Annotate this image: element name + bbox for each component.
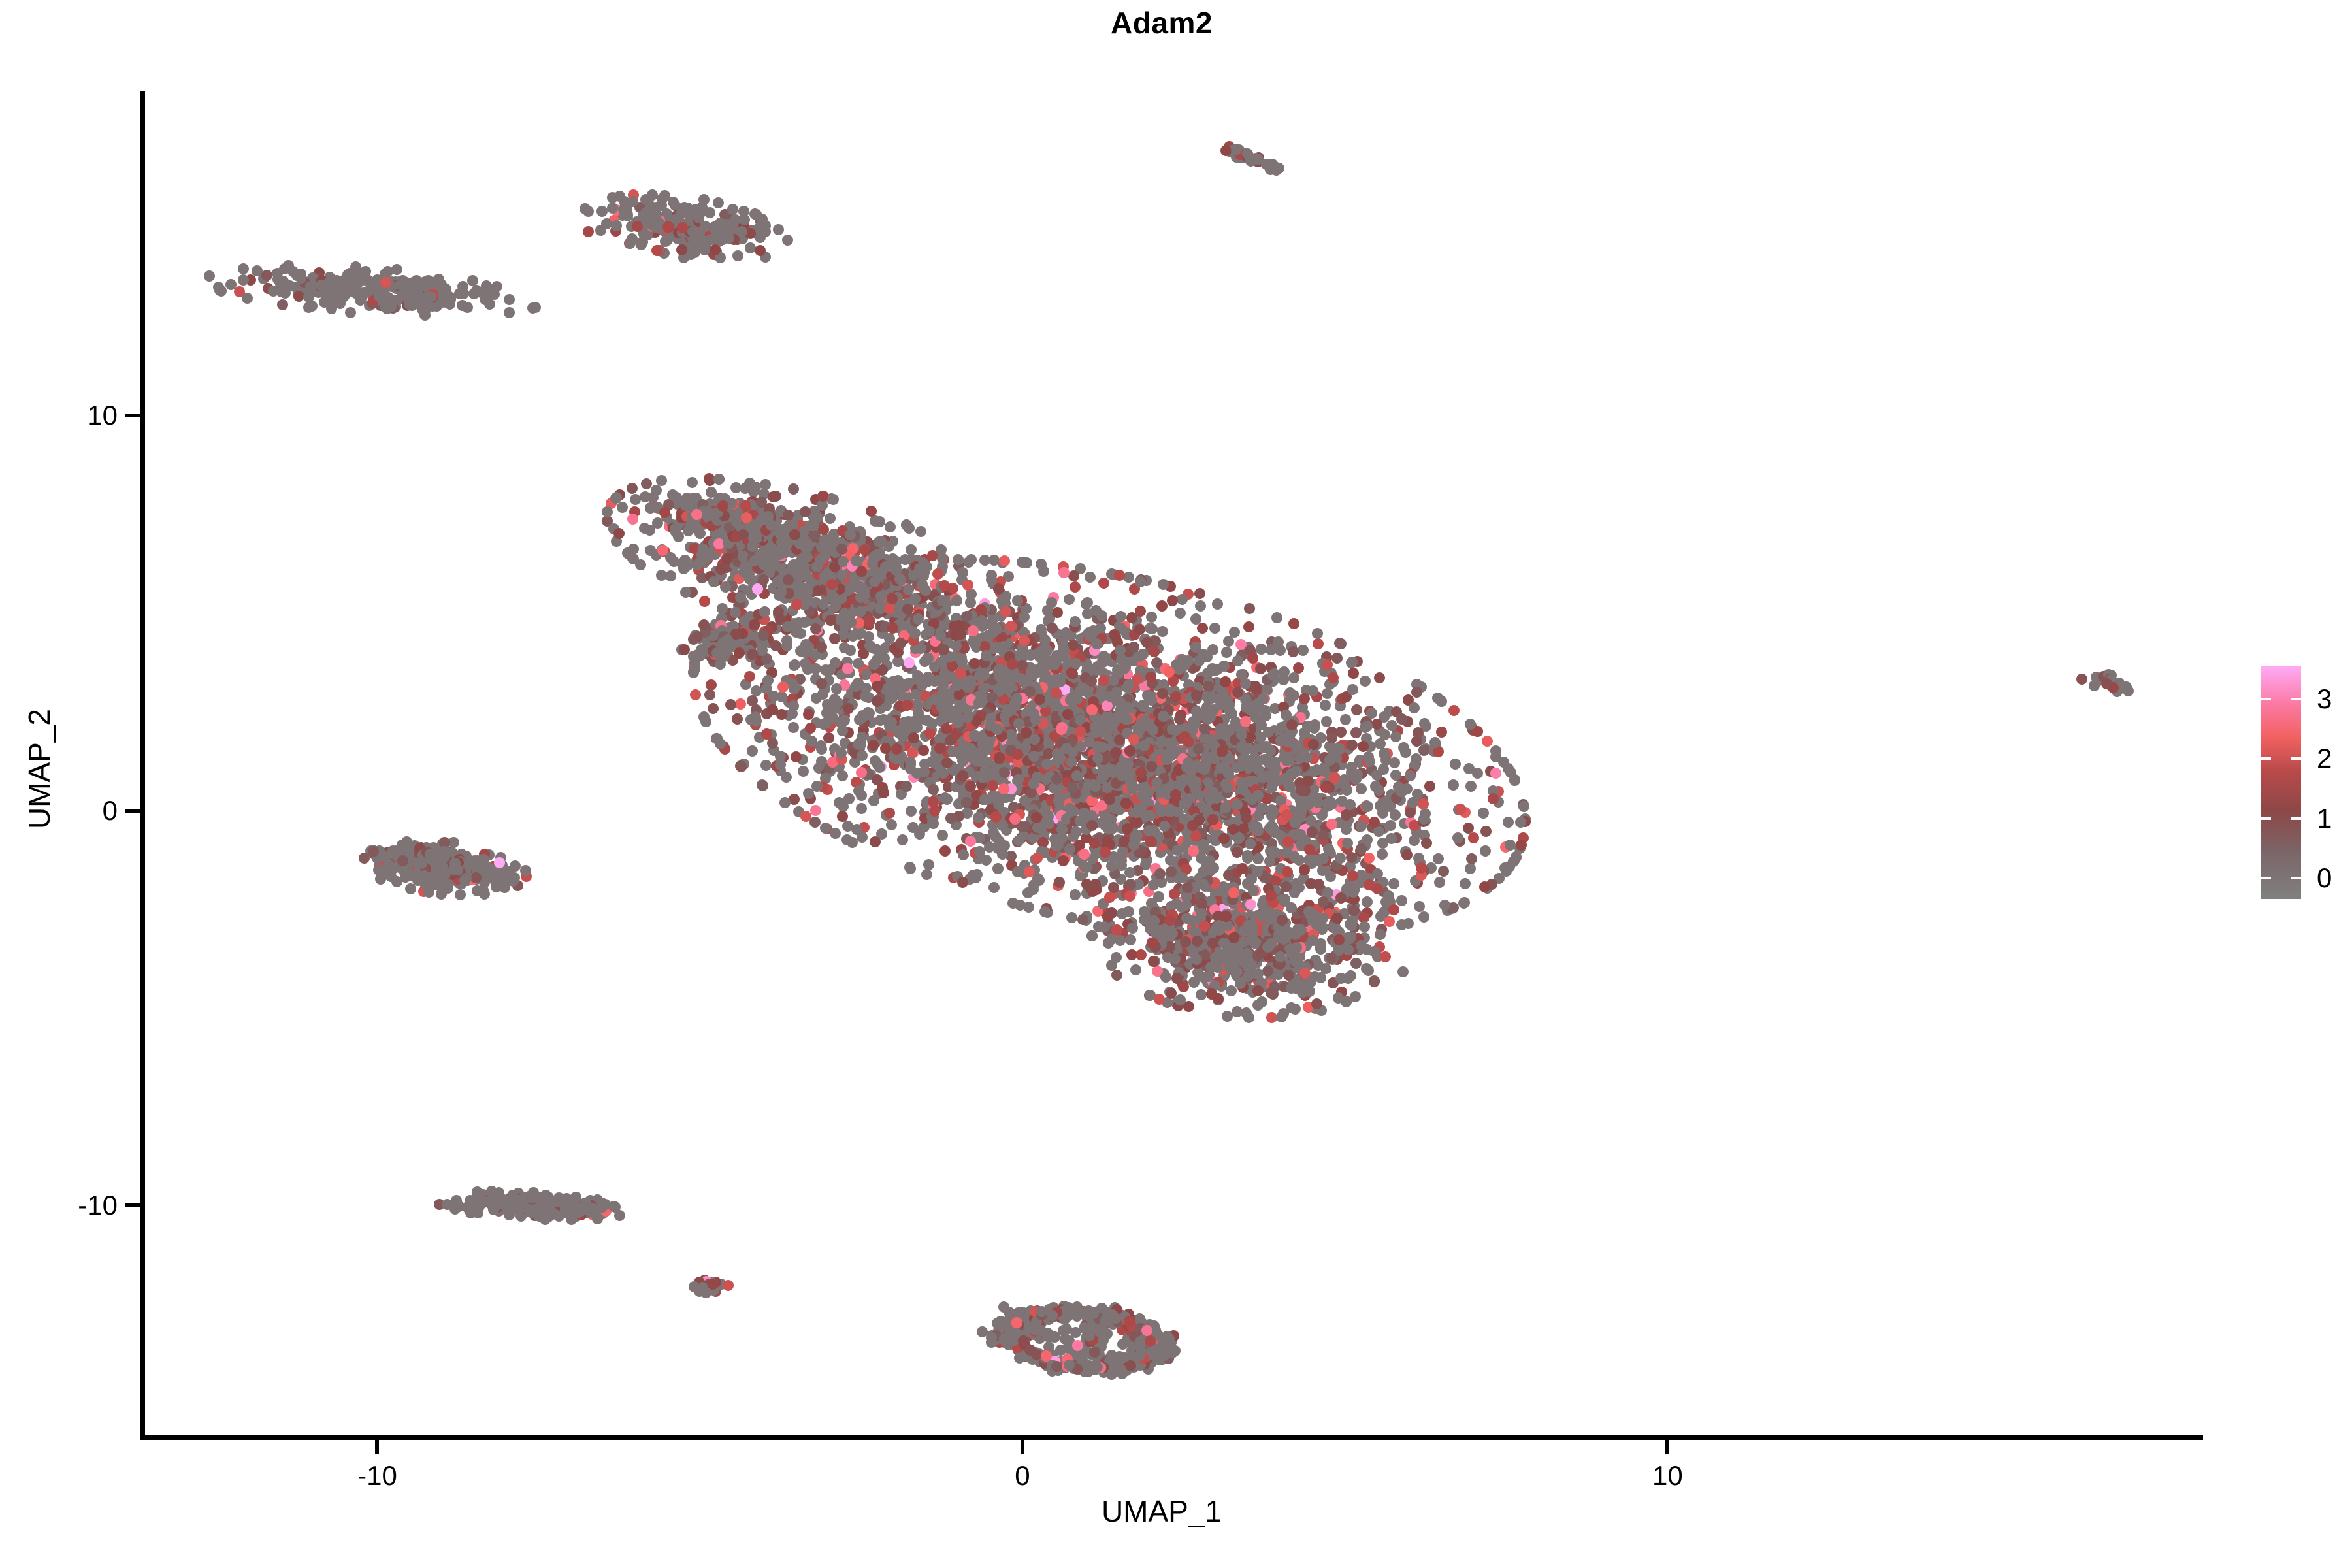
- scatter-point: [1271, 612, 1282, 623]
- scatter-point: [803, 595, 814, 606]
- scatter-point: [1022, 887, 1034, 898]
- scatter-point: [1157, 688, 1168, 699]
- scatter-point: [939, 845, 951, 857]
- scatter-point: [1012, 866, 1023, 877]
- scatter-point: [662, 221, 674, 233]
- scatter-point: [816, 756, 827, 767]
- scatter-point: [891, 743, 902, 755]
- scatter-point: [1103, 823, 1114, 834]
- scatter-point: [994, 752, 1005, 763]
- scatter-point: [853, 678, 864, 689]
- scatter-point: [1173, 664, 1184, 675]
- scatter-point: [1075, 815, 1086, 826]
- scatter-point: [504, 294, 515, 305]
- scatter-point: [1177, 594, 1188, 605]
- scatter-point: [1268, 806, 1279, 817]
- scatter-point: [965, 836, 976, 847]
- scatter-point: [1000, 606, 1011, 617]
- scatter-point: [1419, 718, 1430, 729]
- scatter-point: [934, 743, 945, 754]
- scatter-point: [896, 725, 907, 736]
- scatter-point: [783, 510, 794, 521]
- scatter-point: [607, 192, 618, 203]
- scatter-point: [923, 859, 934, 870]
- scatter-point: [1232, 655, 1243, 666]
- scatter-point: [1385, 820, 1396, 831]
- scatter-point: [1170, 789, 1181, 800]
- scatter-point: [1149, 646, 1160, 657]
- scatter-point: [1037, 655, 1049, 666]
- scatter-point: [277, 299, 288, 310]
- scatter-point: [1255, 663, 1266, 674]
- scatter-point: [1221, 647, 1232, 658]
- scatter-point: [1082, 608, 1093, 619]
- scatter-point: [795, 628, 806, 639]
- scatter-point: [1293, 662, 1304, 674]
- scatter-point: [391, 264, 402, 275]
- scatter-point: [1203, 681, 1214, 692]
- scatter-point: [917, 579, 928, 590]
- scatter-point: [1480, 826, 1492, 837]
- scatter-point: [1318, 830, 1329, 841]
- scatter-point: [725, 699, 736, 710]
- scatter-point: [1347, 740, 1358, 751]
- scatter-point: [641, 478, 652, 489]
- scatter-point: [1068, 570, 1079, 581]
- scatter-point: [1102, 836, 1113, 847]
- scatter-point: [735, 698, 746, 710]
- scatter-point: [1324, 800, 1335, 811]
- scatter-point: [915, 526, 926, 537]
- scatter-point: [990, 832, 1002, 843]
- scatter-point: [839, 642, 850, 653]
- scatter-point: [947, 746, 958, 757]
- scatter-point: [1137, 649, 1149, 660]
- scatter-point: [1460, 878, 1471, 889]
- scatter-point: [1281, 755, 1292, 766]
- scatter-point: [1482, 736, 1493, 747]
- scatter-point: [853, 658, 864, 669]
- scatter-point: [1478, 808, 1489, 819]
- scatter-point: [1379, 748, 1390, 759]
- scatter-point: [1326, 819, 1337, 830]
- scatter-point: [583, 226, 594, 237]
- scatter-point: [1433, 853, 1444, 864]
- scatter-point: [1068, 640, 1079, 651]
- scatter-point: [987, 780, 998, 791]
- scatter-point: [802, 664, 813, 675]
- scatter-point: [999, 555, 1010, 566]
- scatter-point: [1034, 875, 1045, 886]
- scatter-point: [1165, 855, 1176, 866]
- scatter-point: [1167, 724, 1178, 735]
- scatter-point: [688, 667, 699, 678]
- scatter-point: [1479, 881, 1490, 892]
- scatter-point: [1418, 745, 1429, 756]
- scatter-point: [870, 836, 881, 847]
- scatter-point: [388, 295, 399, 306]
- scatter-point: [791, 751, 802, 762]
- scatter-point: [739, 214, 750, 225]
- scatter-point: [316, 280, 327, 291]
- scatter-point: [1331, 653, 1343, 664]
- scatter-point: [843, 793, 855, 804]
- scatter-point: [1348, 668, 1359, 679]
- scatter-point: [1243, 621, 1254, 632]
- scatter-point: [789, 660, 800, 671]
- scatter-point: [1128, 840, 1139, 851]
- scatter-point: [1031, 812, 1042, 823]
- scatter-point: [990, 811, 1002, 823]
- scatter-point: [639, 523, 650, 534]
- scatter-point: [1320, 700, 1331, 711]
- scatter-point: [1058, 855, 1069, 866]
- scatter-point: [647, 189, 658, 201]
- scatter-point: [810, 805, 821, 816]
- scatter-point: [617, 502, 628, 513]
- scatter-point: [1433, 746, 1444, 757]
- scatter-point: [854, 714, 865, 725]
- scatter-point: [1190, 642, 1201, 653]
- scatter-point: [761, 728, 772, 740]
- scatter-point: [993, 799, 1004, 810]
- scatter-point: [1511, 851, 1522, 862]
- scatter-point: [941, 723, 952, 734]
- scatter-point: [1369, 817, 1380, 828]
- scatter-point: [1134, 624, 1145, 635]
- scatter-point: [1032, 772, 1043, 783]
- scatter-point: [1061, 743, 1072, 754]
- scatter-point: [932, 568, 943, 580]
- scatter-point: [1240, 678, 1251, 689]
- scatter-point: [837, 770, 848, 781]
- scatter-point: [1236, 777, 1247, 789]
- scatter-point: [945, 813, 956, 824]
- scatter-point: [1008, 672, 1019, 683]
- scatter-point: [1362, 801, 1373, 812]
- scatter-point: [1198, 839, 1209, 850]
- scatter-point: [1401, 849, 1413, 860]
- scatter-point: [611, 220, 622, 231]
- scatter-point: [1218, 661, 1230, 672]
- scatter-point: [843, 703, 854, 714]
- scatter-point: [735, 592, 746, 603]
- scatter-point: [1028, 751, 1039, 762]
- scatter-point: [1396, 895, 1407, 906]
- scatter-point: [698, 711, 710, 723]
- scatter-point: [732, 713, 743, 725]
- scatter-point: [1307, 685, 1318, 696]
- scatter-point: [1414, 901, 1425, 912]
- scatter-point: [1139, 715, 1151, 727]
- scatter-point: [747, 745, 758, 757]
- scatter-point: [1058, 567, 1070, 578]
- scatter-point: [908, 716, 919, 727]
- scatter-point: [1450, 759, 1461, 770]
- scatter-point: [1501, 866, 1512, 877]
- scatter-point: [1207, 663, 1218, 674]
- scatter-point: [897, 834, 908, 845]
- scatter-point: [1237, 760, 1248, 771]
- scatter-point: [1267, 670, 1279, 681]
- scatter-point: [402, 284, 414, 295]
- scatter-point: [1366, 708, 1377, 719]
- scatter-point: [380, 277, 391, 288]
- scatter-point: [1217, 746, 1228, 757]
- scatter-point: [1191, 690, 1202, 701]
- scatter-point: [1438, 866, 1449, 877]
- scatter-point: [886, 717, 897, 728]
- scatter-point: [1190, 613, 1201, 625]
- scatter-point: [1079, 861, 1090, 872]
- scatter-point: [902, 604, 913, 615]
- scatter-point: [1009, 813, 1021, 825]
- scatter-point: [760, 760, 772, 771]
- scatter-point: [958, 849, 969, 860]
- scatter-point: [1167, 595, 1178, 606]
- scatter-point: [1051, 774, 1062, 785]
- scatter-point: [1194, 655, 1205, 666]
- scatter-point: [818, 524, 829, 535]
- scatter-point: [842, 663, 853, 674]
- scatter-point: [952, 679, 963, 691]
- scatter-point: [960, 751, 972, 762]
- scatter-point: [1102, 700, 1113, 711]
- scatter-point: [926, 718, 938, 729]
- scatter-point: [1052, 607, 1063, 618]
- scatter-point: [887, 693, 898, 704]
- scatter-point: [831, 683, 842, 694]
- scatter-point: [988, 882, 1000, 893]
- scatter-point: [1298, 645, 1309, 656]
- scatter-point: [1286, 719, 1298, 730]
- scatter-point: [596, 206, 608, 217]
- scatter-point: [1465, 781, 1477, 792]
- scatter-point: [851, 824, 862, 835]
- scatter-point: [1245, 838, 1256, 849]
- scatter-point: [1060, 627, 1071, 638]
- scatter-point: [1335, 853, 1346, 864]
- scatter-point: [1409, 702, 1420, 713]
- scatter-point: [706, 679, 717, 691]
- scatter-point: [659, 190, 670, 201]
- scatter-point: [1455, 804, 1466, 815]
- scatter-point: [768, 491, 779, 502]
- scatter-point: [1436, 727, 1447, 738]
- scatter-point: [442, 295, 453, 306]
- scatter-point: [1195, 600, 1206, 612]
- scatter-point: [830, 828, 841, 839]
- scatter-point: [632, 221, 643, 232]
- scatter-point: [953, 554, 964, 565]
- scatter-point: [1100, 810, 1111, 821]
- scatter-point: [1255, 732, 1266, 743]
- scatter-point: [914, 828, 925, 840]
- scatter-point: [1194, 815, 1205, 826]
- scatter-point: [809, 817, 821, 828]
- scatter-point: [1312, 628, 1323, 639]
- scatter-point: [1206, 693, 1217, 704]
- scatter-point: [782, 235, 793, 246]
- scatter-point: [992, 863, 1004, 874]
- scatter-point: [760, 226, 771, 237]
- scatter-point: [1289, 739, 1300, 750]
- scatter-point: [811, 693, 822, 704]
- scatter-point: [1448, 779, 1459, 791]
- scatter-point: [1175, 608, 1186, 619]
- scatter-point: [825, 513, 836, 524]
- scatter-point: [1356, 843, 1367, 855]
- scatter-point: [216, 286, 227, 297]
- scatter-point: [875, 591, 887, 602]
- scatter-point: [1121, 714, 1132, 725]
- scatter-point: [775, 759, 786, 770]
- scatter-point: [293, 291, 304, 302]
- scatter-point: [777, 681, 789, 693]
- scatter-point: [767, 738, 778, 749]
- scatter-point: [1459, 897, 1470, 908]
- scatter-point: [1373, 785, 1384, 796]
- scatter-point: [1219, 698, 1230, 710]
- scatter-point: [238, 274, 249, 286]
- scatter-point: [425, 291, 436, 302]
- scatter-point: [1217, 687, 1228, 698]
- scatter-point: [1371, 770, 1382, 781]
- scatter-point: [1124, 867, 1135, 878]
- scatter-point: [1032, 853, 1043, 864]
- scatter-point: [1098, 578, 1109, 589]
- scatter-point: [708, 703, 719, 714]
- scatter-point: [1335, 638, 1347, 649]
- scatter-point: [1100, 847, 1111, 858]
- scatter-point: [530, 302, 541, 313]
- scatter-point: [699, 244, 710, 255]
- scatter-point: [1159, 821, 1170, 832]
- scatter-point: [636, 239, 647, 250]
- scatter-point: [1120, 798, 1132, 809]
- scatter-point: [1448, 705, 1460, 716]
- scatter-point: [836, 747, 847, 759]
- scatter-point: [1356, 821, 1367, 832]
- scatter-point: [1110, 747, 1121, 759]
- scatter-point: [711, 733, 723, 744]
- scatter-point: [708, 576, 719, 587]
- scatter-point: [1170, 691, 1181, 702]
- scatter-point: [1351, 704, 1362, 715]
- scatter-point: [1405, 807, 1416, 818]
- scatter-point: [1090, 664, 1102, 676]
- scatter-point: [960, 741, 971, 752]
- scatter-point: [1374, 672, 1385, 683]
- scatter-point: [906, 806, 917, 817]
- scatter-point: [1429, 737, 1441, 748]
- scatter-point: [1081, 598, 1092, 610]
- scatter-point: [908, 732, 919, 743]
- scatter-point: [1232, 687, 1243, 698]
- scatter-point: [485, 285, 497, 296]
- scatter-point: [904, 657, 915, 668]
- scatter-point: [1054, 753, 1066, 764]
- scatter-point: [941, 757, 953, 768]
- scatter-point: [1172, 845, 1183, 856]
- scatter-point: [1322, 688, 1333, 699]
- scatter-point: [773, 224, 784, 235]
- scatter-point: [710, 223, 721, 235]
- scatter-point: [1418, 911, 1429, 923]
- scatter-point: [816, 642, 827, 653]
- scatter-point: [1036, 559, 1047, 570]
- scatter-point: [1209, 623, 1220, 634]
- scatter-point: [700, 221, 711, 232]
- scatter-point: [1141, 810, 1152, 821]
- scatter-point: [875, 646, 886, 657]
- scatter-point: [1135, 606, 1146, 617]
- scatter-point: [760, 479, 771, 490]
- scatter-point: [874, 762, 885, 773]
- scatter-point: [978, 683, 989, 694]
- scatter-point: [1089, 838, 1100, 849]
- scatter-point: [204, 270, 215, 282]
- scatter-point: [1490, 768, 1501, 779]
- scatter-point: [1236, 729, 1247, 740]
- scatter-point: [656, 475, 667, 486]
- scatter-point: [412, 278, 423, 289]
- scatter-point: [947, 583, 958, 594]
- scatter-point: [333, 293, 344, 304]
- scatter-point: [755, 245, 766, 256]
- scatter-point: [1079, 849, 1090, 860]
- scatter-point: [1288, 672, 1299, 683]
- scatter-point: [647, 215, 658, 226]
- scatter-point: [932, 675, 943, 686]
- scatter-point: [583, 206, 594, 217]
- scatter-point: [1223, 636, 1234, 647]
- scatter-point: [747, 695, 758, 706]
- scatter-point: [974, 846, 985, 857]
- scatter-point: [1452, 832, 1463, 843]
- scatter-point: [957, 770, 968, 781]
- scatter-point: [884, 633, 895, 644]
- scatter-point: [468, 288, 480, 299]
- scatter-point: [1424, 781, 1435, 792]
- scatter-point: [1128, 642, 1139, 653]
- scatter-point: [1468, 832, 1479, 843]
- scatter-point: [1515, 817, 1526, 828]
- scatter-point: [1183, 736, 1194, 747]
- scatter-point: [841, 834, 853, 845]
- scatter-point: [866, 506, 877, 517]
- scatter-point: [1480, 845, 1491, 857]
- scatter-point: [803, 642, 814, 653]
- scatter-point: [918, 745, 929, 756]
- scatter-point: [762, 675, 774, 686]
- scatter-point: [1039, 642, 1051, 653]
- scatter-point: [910, 689, 921, 700]
- scatter-point: [884, 808, 895, 819]
- scatter-point: [936, 544, 947, 555]
- scatter-point: [1145, 672, 1156, 683]
- scatter-point: [757, 780, 768, 791]
- scatter-point: [1156, 600, 1168, 612]
- scatter-point: [676, 244, 687, 255]
- scatter-point: [1518, 801, 1529, 812]
- scatter-point: [735, 760, 746, 772]
- scatter-point: [1288, 618, 1299, 629]
- scatter-point: [930, 694, 941, 705]
- scatter-point: [1463, 823, 1474, 834]
- scatter-point: [687, 477, 698, 488]
- scatter-point: [1407, 797, 1418, 808]
